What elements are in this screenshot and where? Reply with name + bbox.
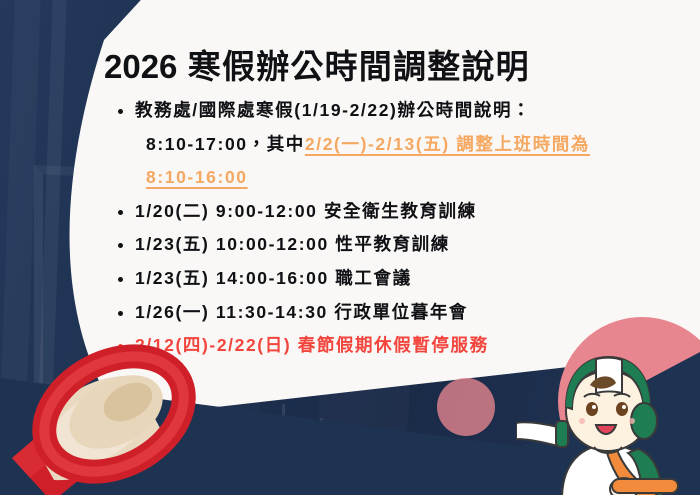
safety-training-text: 1/20(二) 9:00-12:00 安全衛生教育訓練 (135, 201, 477, 221)
office-hours-line1: 教務處/國際處寒假(1/19-2/22)辦公時間說明： (135, 100, 531, 120)
list-item-year-end-party: 1/26(一) 11:30-14:30 行政單位暮年會 (116, 296, 688, 330)
office-hours-adjusted-time: 8:10-16:00 (146, 167, 248, 187)
year-end-party-text: 1/26(一) 11:30-14:30 行政單位暮年會 (135, 302, 468, 322)
office-hours-line3: 8:10-16:00 (135, 161, 688, 195)
megaphone-icon (0, 330, 222, 495)
list-item-staff-meeting: 1/23(五) 14:00-16:00 職工會議 (116, 262, 688, 296)
staff-meeting-text: 1/23(五) 14:00-16:00 職工會議 (135, 268, 412, 288)
page-title: 2026 寒假辦公時間調整說明 (104, 40, 530, 88)
office-hours-adjusted-range: 2/2(一)-2/13(五) 調整上班時間為 (305, 134, 590, 154)
title-year: 2026 (104, 48, 177, 85)
title-heading: 寒假辦公時間調整說明 (188, 48, 530, 85)
announcement-list: 教務處/國際處寒假(1/19-2/22)辦公時間說明： 8:10-17:00，其… (116, 94, 688, 363)
poster-canvas: 2026 寒假辦公時間調整說明 教務處/國際處寒假(1/19-2/22)辦公時間… (0, 0, 700, 495)
office-hours-line2: 8:10-17:00，其中2/2(一)-2/13(五) 調整上班時間為 (135, 128, 688, 162)
list-item-gender-equity-training: 1/23(五) 10:00-12:00 性平教育訓練 (116, 228, 688, 262)
list-item-office-hours: 教務處/國際處寒假(1/19-2/22)辦公時間說明： 8:10-17:00，其… (116, 94, 688, 195)
gender-equity-training-text: 1/23(五) 10:00-12:00 性平教育訓練 (135, 234, 450, 254)
list-item-safety-training: 1/20(二) 9:00-12:00 安全衛生教育訓練 (116, 195, 688, 229)
mascot-character-icon (516, 349, 686, 495)
office-hours-base-time: 8:10-17:00，其中 (146, 134, 305, 154)
